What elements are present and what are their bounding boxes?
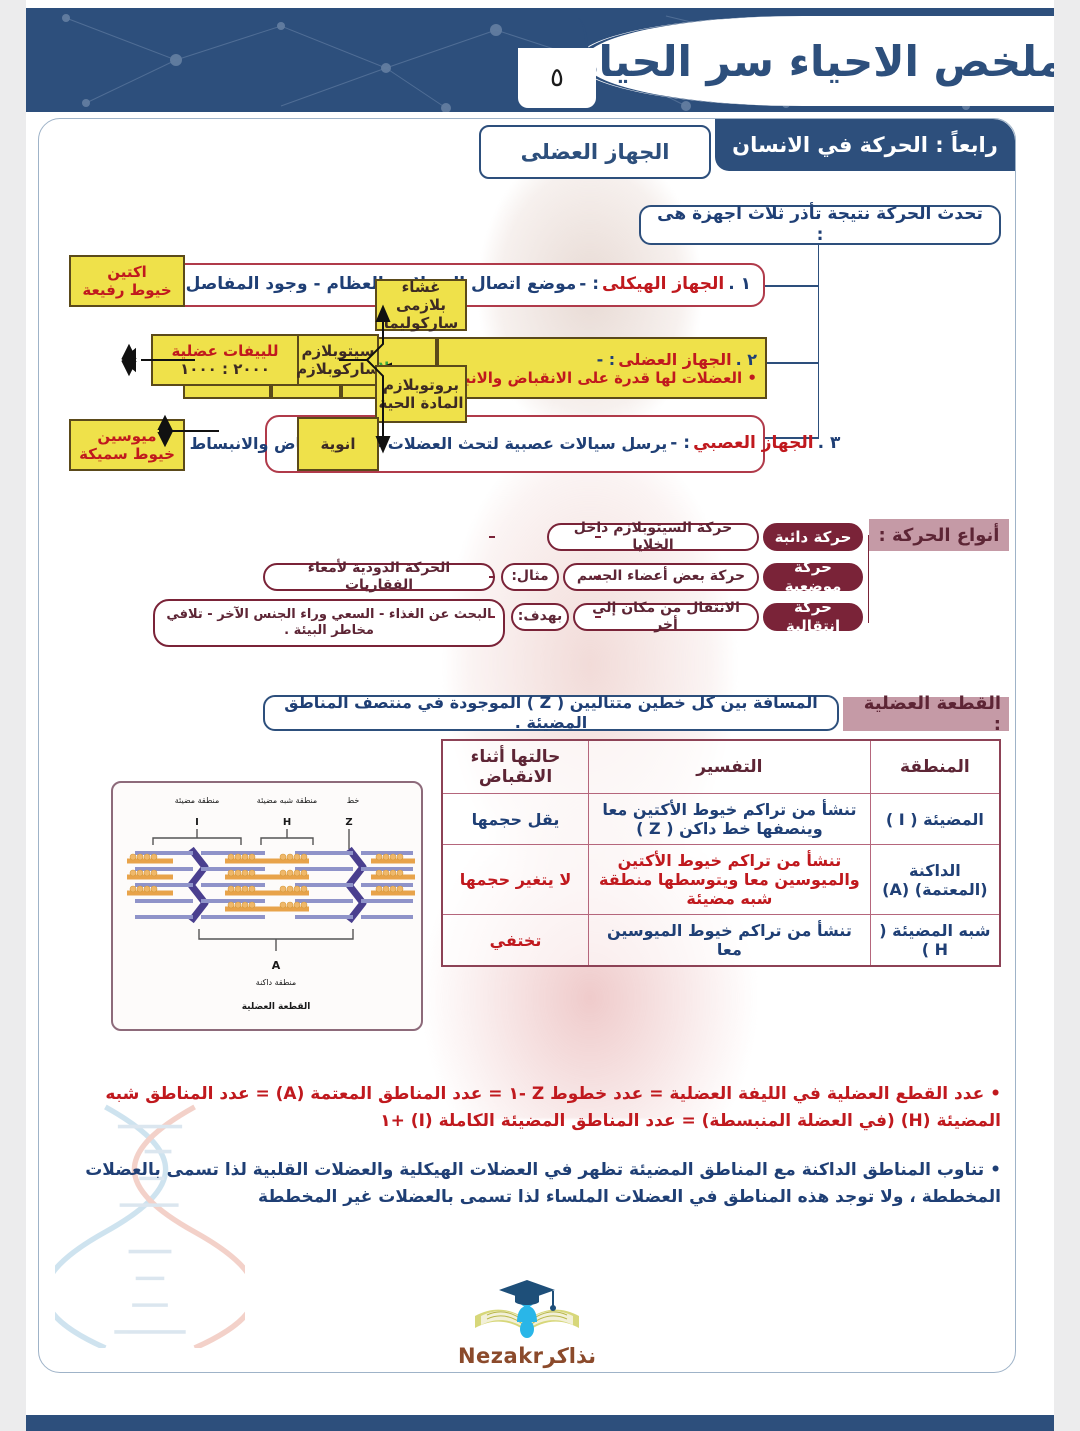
table-header-explanation: التفسير [589,740,871,794]
sarcomere-diagram-icon: منطقة مضيئة I منطقة شبه مضيئة H خط Z [113,783,421,1029]
movement-connectors-icon [489,519,869,651]
system-name: الجهاز العضلى [618,350,731,369]
system-separator: : - [670,433,690,454]
page-title: ملخص الاحياء سر الحياة [574,37,1054,86]
connector-spine-1 [761,285,819,287]
bullet-dot-icon: • [990,1081,1001,1108]
cell-explanation: تنشأ من تراكم خيوط الأكتين معا وينصفها خ… [589,794,871,845]
document-title-plate: ملخص الاحياء سر الحياة [578,16,1054,106]
movement-extra-3: البحث عن الغذاء - السعي وراء الجنس الآخر… [153,599,505,647]
note-1: • عدد القطع العضلية في الليفة العضلية = … [49,1081,1001,1135]
gutter-left [0,0,26,1431]
system-separator: : - [579,274,599,295]
cell-region: شبه المضيئة ( H ) [870,915,1000,967]
cell-explanation: تنشأ من تراكم خيوط الميوسين معا [589,915,871,967]
movement-types-label: أنواع الحركة : [869,519,1009,551]
section-subtitle-box: الجهاز العضلى [479,125,711,179]
content-sheet-inner: رابعاً : الحركة في الانسان الجهاز العضلى… [39,119,1015,1372]
content-sheet: رابعاً : الحركة في الانسان الجهاز العضلى… [38,118,1016,1373]
section-title: رابعاً : الحركة في الانسان [732,133,998,157]
table-row: المضيئة ( I ) تنشأ من تراكم خيوط الأكتين… [442,794,1000,845]
connector-spine-2 [761,362,819,364]
note-text: عدد القطع العضلية في الليفة العضلية = عد… [105,1084,1001,1131]
footer-logo: نذاكرNezakr [39,1272,1015,1368]
svg-text:منطقة شبه مضيئة: منطقة شبه مضيئة [257,796,317,805]
svg-text:خط: خط [347,796,360,805]
system-index: ١ . [728,274,751,295]
cell-diagram-connectors-icon [55,249,475,479]
system-name: الجهاز الهيكلى [602,274,724,295]
svg-text:A: A [272,959,281,972]
cell-region: المضيئة ( I ) [870,794,1000,845]
system-separator: : - [597,350,616,369]
system-index: ٢ . [736,350,757,369]
svg-text:H: H [283,817,291,828]
system-name: الجهاز العصبي [693,433,813,454]
cell-state: لا يتغير حجمها [442,845,589,915]
system-index: ٣ . [818,433,841,454]
regions-table: المنطقة التفسير حالتها أثناء الانقباض ال… [441,739,1001,967]
section-header: رابعاً : الحركة في الانسان [715,119,1015,171]
page-root: ملخص الاحياء سر الحياة ٥ رابعاً : [0,0,1080,1431]
intro-statement: تحدث الحركة نتيجة تأذر ثلاث اجهزة هى : [639,205,1001,245]
cell-state: يقل حجمها [442,794,589,845]
svg-text:I: I [195,817,199,828]
svg-text:منطقة داكنة: منطقة داكنة [256,978,296,987]
connector-spine-vertical [818,245,820,439]
brand-name: نذاكرNezakr [458,1344,596,1368]
table-row: الداكنة (المعتمة) (A) تنشأ من تراكم خيوط… [442,845,1000,915]
cell-state: تختفي [442,915,589,967]
section-subtitle: الجهاز العضلى [521,140,670,164]
page-number-badge: ٥ [518,48,596,108]
table-header-state: حالتها أثناء الانقباض [442,740,589,794]
system-row-muscular: ٢ . الجهاز العضلى : - • العضلات لها قدرة… [437,337,767,399]
cell-explanation: تنشأ من تراكم خيوط الأكتين والميوسين معا… [589,845,871,915]
svg-text:منطقة مضيئة: منطقة مضيئة [175,796,219,805]
table-header-row: المنطقة التفسير حالتها أثناء الانقباض [442,740,1000,794]
note-2: • تناوب المناطق الداكنة مع المناطق المضي… [49,1157,1001,1211]
system-detail: • العضلات لها قدرة على الانقباض والانبسا… [428,369,757,387]
sarcomere-label: القطعة العضلية : [843,697,1009,731]
bullet-dot-icon: • [990,1157,1001,1184]
table-header-region: المنطقة [870,740,1000,794]
svg-text:Z: Z [345,817,352,828]
note-text: تناوب المناطق الداكنة مع المناطق المضيئة… [85,1160,1001,1207]
movement-extra-2: الحركة الدودية لأمعاء الفقاريات [263,563,495,591]
table-row: شبه المضيئة ( H ) تنشأ من تراكم خيوط الم… [442,915,1000,967]
svg-text:القطعة العضلية: القطعة العضلية [242,1002,311,1012]
cell-region: الداكنة (المعتمة) (A) [870,845,1000,915]
footer-bar [26,1415,1054,1431]
gutter-right [1054,0,1080,1431]
sarcomere-figure: منطقة مضيئة I منطقة شبه مضيئة H خط Z [111,781,423,1031]
nezakr-graduation-book-logo-icon [467,1272,587,1346]
sarcomere-definition: المسافة بين كل خطين متتاليين ( Z ) الموج… [263,695,839,731]
